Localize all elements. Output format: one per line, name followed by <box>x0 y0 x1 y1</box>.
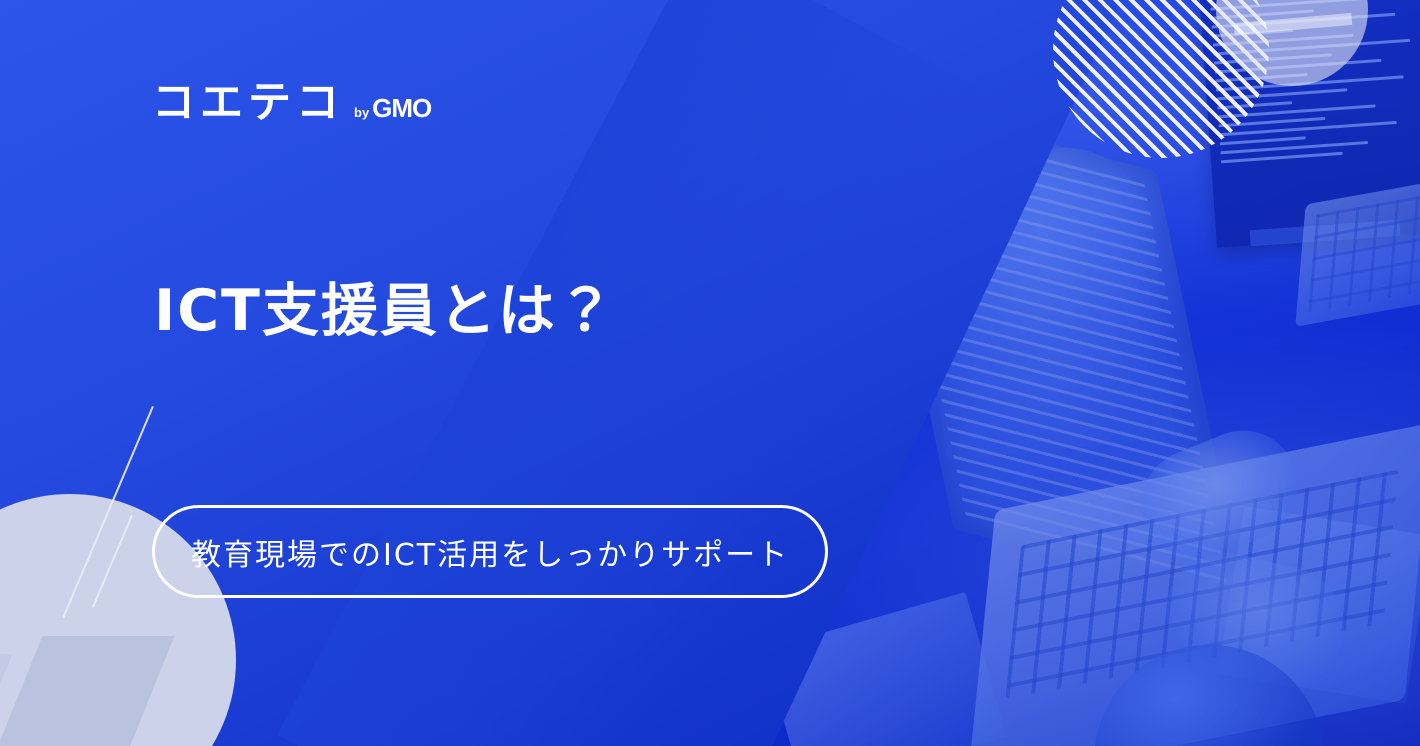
logo-by-gmo: by GMO <box>354 95 431 125</box>
site-logo[interactable]: コエテコ by GMO <box>152 82 431 125</box>
hero-banner: コエテコ by GMO ICT支援員とは？ 教育現場でのICT活用をしっかりサポ… <box>0 0 1420 746</box>
hero-subtitle-text: 教育現場でのICT活用をしっかりサポート <box>191 530 789 574</box>
logo-wordmark: コエテコ <box>152 82 344 125</box>
logo-by-label: by <box>354 106 369 119</box>
hero-content: コエテコ by GMO ICT支援員とは？ 教育現場でのICT活用をしっかりサポ… <box>0 0 1420 746</box>
page-title: ICT支援員とは？ <box>154 281 616 343</box>
hero-subtitle-pill: 教育現場でのICT活用をしっかりサポート <box>152 505 828 598</box>
logo-gmo-label: GMO <box>372 95 431 121</box>
